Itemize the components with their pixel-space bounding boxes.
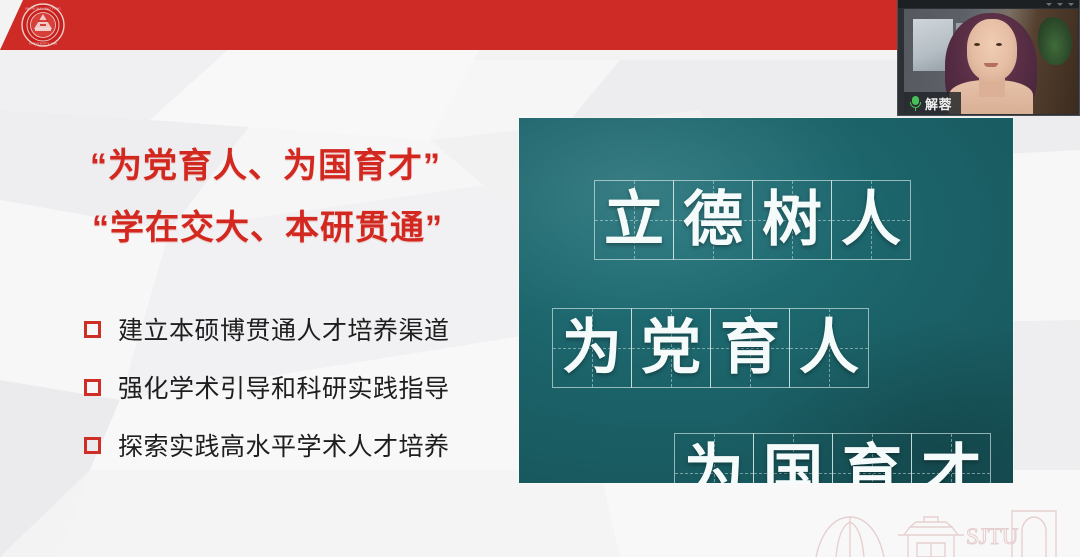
calligraphy-cell: 德 xyxy=(673,180,753,260)
slide-stage: SHANGHAI JIAO TONG UNIVERSITY 1896 1. 计划… xyxy=(0,0,1080,557)
calligraphy-glyph: 党 xyxy=(641,318,701,378)
video-toolbar[interactable] xyxy=(898,0,1079,8)
calligraphy-glyph: 育 xyxy=(720,318,780,378)
calligraphy-glyph: 为 xyxy=(562,318,622,378)
square-bullet-icon xyxy=(84,437,101,454)
participant-name-label: 解蓉 xyxy=(925,94,952,113)
list-item-label: 探索实践高水平学术人才培养 xyxy=(118,427,450,463)
bullet-list: 建立本硕博贯通人才培养渠道 强化学术引导和科研实践指导 探索实践高水平学术人才培… xyxy=(84,300,514,474)
calligraphy-cell: 党 xyxy=(631,308,711,388)
calligraphy-row: 为 国 育 才 xyxy=(674,433,990,483)
chevron-down-icon[interactable] xyxy=(1057,3,1063,6)
slogan-line-2: “学在交大、本研贯通” xyxy=(90,197,510,259)
calligraphy-cell: 育 xyxy=(832,433,912,483)
participant-mouth xyxy=(984,63,998,67)
list-item-label: 强化学术引导和科研实践指导 xyxy=(118,369,450,405)
calligraphy-cell: 树 xyxy=(752,180,832,260)
participant-eye xyxy=(996,43,1002,46)
list-item: 建立本硕博贯通人才培养渠道 xyxy=(84,300,514,358)
calligraphy-cell: 人 xyxy=(831,180,911,260)
list-item: 强化学术引导和科研实践指导 xyxy=(84,358,514,416)
microphone-icon[interactable] xyxy=(910,96,921,111)
calligraphy-cell: 人 xyxy=(789,308,869,388)
svg-text:UNIVERSITY 1896: UNIVERSITY 1896 xyxy=(29,42,57,46)
calligraphy-glyph: 树 xyxy=(762,190,822,250)
calligraphy-cell: 为 xyxy=(674,433,754,483)
svg-text:SHANGHAI JIAO TONG: SHANGHAI JIAO TONG xyxy=(25,7,62,11)
participant-eye xyxy=(974,43,980,46)
calligraphy-glyph: 人 xyxy=(799,318,859,378)
calligraphy-glyph: 德 xyxy=(683,190,743,250)
calligraphy-image: 立 德 树 人 为 党 育 人 xyxy=(519,118,1013,483)
chevron-down-icon[interactable] xyxy=(1046,3,1052,6)
list-item-label: 建立本硕博贯通人才培养渠道 xyxy=(118,311,450,347)
calligraphy-row: 立 德 树 人 xyxy=(594,180,910,260)
slogan-block: “为党育人、为国育才” “学在交大、本研贯通” xyxy=(90,135,510,259)
calligraphy-glyph: 为 xyxy=(684,443,744,483)
status-badge: 解蓉 xyxy=(904,92,961,114)
calligraphy-cell: 才 xyxy=(911,433,991,483)
chevron-down-icon[interactable] xyxy=(1068,3,1074,6)
calligraphy-glyph: 国 xyxy=(763,443,823,483)
calligraphy-cell: 为 xyxy=(552,308,632,388)
list-item: 探索实践高水平学术人才培养 xyxy=(84,416,514,474)
slogan-line-1: “为党育人、为国育才” xyxy=(90,135,510,197)
square-bullet-icon xyxy=(84,379,101,396)
left-content-column: “为党育人、为国育才” “学在交大、本研贯通” 建立本硕博贯通人才培养渠道 强化… xyxy=(0,50,515,557)
calligraphy-glyph: 人 xyxy=(841,190,901,250)
video-participant-tile[interactable]: 解蓉 xyxy=(897,0,1080,116)
calligraphy-glyph: 育 xyxy=(842,443,902,483)
video-feed[interactable]: 解蓉 xyxy=(904,9,1078,114)
calligraphy-cell: 国 xyxy=(753,433,833,483)
calligraphy-cell: 育 xyxy=(710,308,790,388)
sjtu-campus-landmark-outline-icon: SJTU xyxy=(812,495,1072,557)
image-sheen xyxy=(519,118,1013,483)
calligraphy-glyph: 才 xyxy=(921,443,981,483)
watermark-text: SJTU xyxy=(966,524,1019,549)
calligraphy-glyph: 立 xyxy=(604,190,664,250)
sjtu-seal-logo-icon: SHANGHAI JIAO TONG UNIVERSITY 1896 xyxy=(20,2,66,48)
participant-face xyxy=(967,19,1017,81)
square-bullet-icon xyxy=(84,321,101,338)
calligraphy-row: 为 党 育 人 xyxy=(552,308,868,388)
calligraphy-cell: 立 xyxy=(594,180,674,260)
